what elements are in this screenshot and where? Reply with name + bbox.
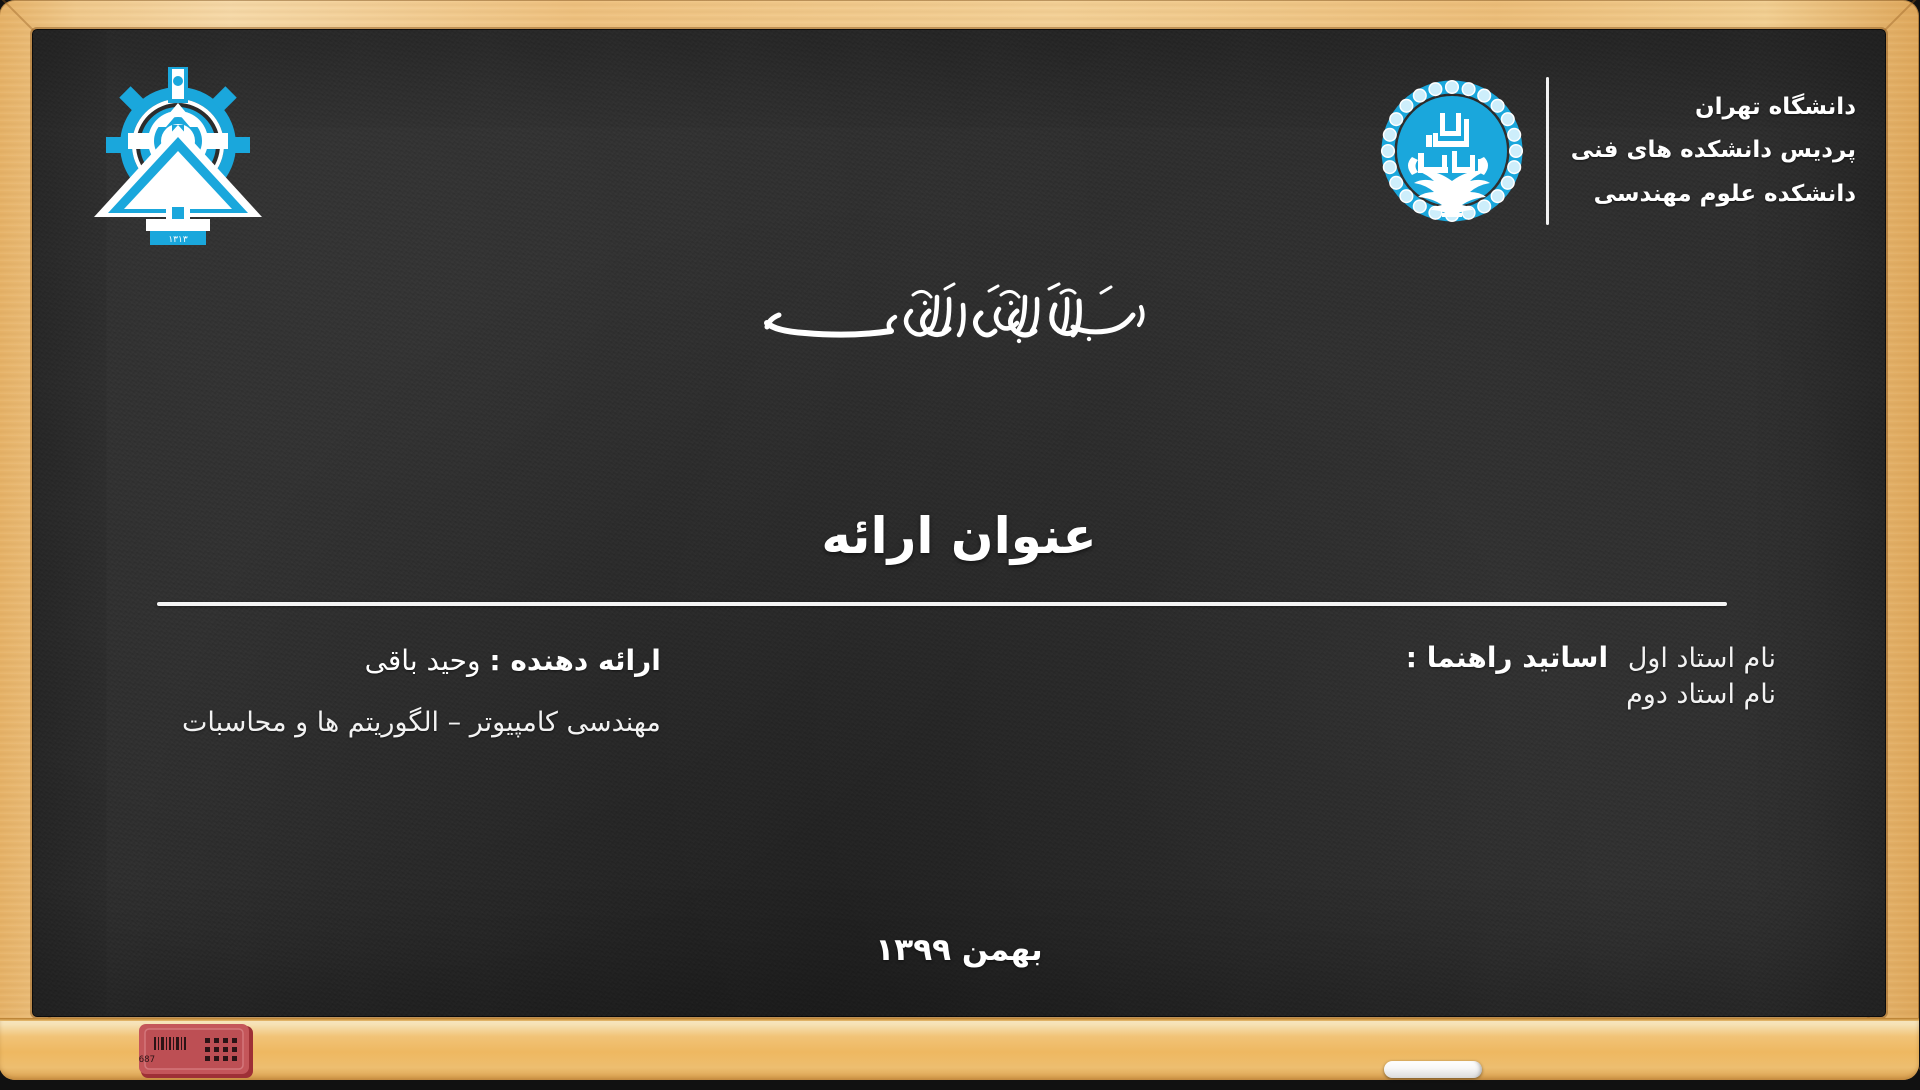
header-block: دانشگاه تهران پردیس دانشکده های فنی دانش…: [1379, 77, 1857, 225]
chalkboard-surface: ۱۳۱۳ دانشگاه تهران پردیس دانشکده های فنی…: [33, 29, 1887, 1017]
presenter-field: مهندسی کامپیوتر – الگوریتم ها و محاسبات: [183, 707, 662, 738]
presentation-date: بهمن ۱۳۹۹: [33, 932, 1887, 968]
title-divider: [158, 602, 1728, 606]
eraser-barcode-number: 00124687: [140, 1055, 156, 1065]
board-eraser[interactable]: 00124687: [140, 1024, 258, 1086]
supervisors-label: اساتید راهنما :: [1407, 641, 1609, 674]
header-line-faculty: دانشکده علوم مهندسی: [1572, 182, 1857, 207]
header-vertical-divider: [1547, 77, 1550, 225]
university-of-tehran-logo: [1379, 77, 1527, 225]
info-row: نام استاد اول نام استاد دوم اساتید راهنم…: [183, 641, 1777, 738]
supervisors-block: نام استاد اول نام استاد دوم اساتید راهنم…: [1407, 641, 1777, 712]
supervisor-name-2: نام استاد دوم: [1627, 677, 1777, 713]
header-institution-lines: دانشگاه تهران پردیس دانشکده های فنی دانش…: [1550, 95, 1857, 207]
chalkboard-wooden-frame: ۱۳۱۳ دانشگاه تهران پردیس دانشکده های فنی…: [0, 0, 1920, 1080]
presenter-name: وحید باقی: [366, 644, 482, 677]
presenter-block: ارائه دهنده : وحید باقی مهندسی کامپیوتر …: [183, 641, 662, 738]
supervisor-name-1: نام استاد اول: [1627, 641, 1777, 677]
supervisor-names: نام استاد اول نام استاد دوم: [1627, 641, 1777, 712]
presenter-label: ارائه دهنده :: [490, 644, 661, 677]
page-title: عنوان ارائه: [33, 507, 1887, 565]
chalk-ledge: [0, 1018, 1920, 1080]
presenter-line: ارائه دهنده : وحید باقی: [183, 641, 662, 682]
header-line-university: دانشگاه تهران: [1572, 95, 1857, 120]
bismillah-calligraphy: [33, 281, 1887, 361]
chalk-stick[interactable]: [1385, 1061, 1483, 1078]
header-line-campus: پردیس دانشکده های فنی: [1572, 138, 1857, 163]
faculty-of-engineering-logo: ۱۳۱۳: [81, 67, 277, 249]
svg-text:۱۳۱۳: ۱۳۱۳: [169, 235, 189, 245]
